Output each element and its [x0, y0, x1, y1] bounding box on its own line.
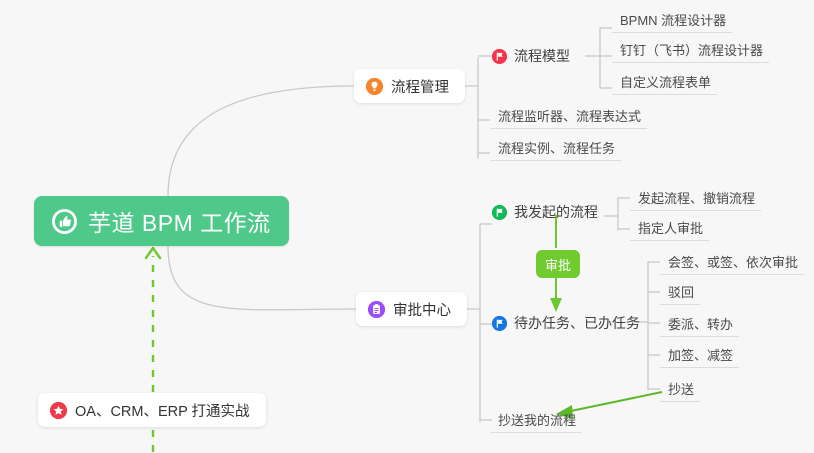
leaf-assigned-approval-label: 指定人审批 — [638, 218, 703, 237]
approve-badge-label: 审批 — [545, 255, 571, 274]
leaf-dingtalk-designer[interactable]: 钉钉（飞书）流程设计器 — [612, 36, 769, 63]
node-todo-done-tasks-label: 待办任务、已办任务 — [514, 313, 640, 333]
bottom-note-node[interactable]: OA、CRM、ERP 打通实战 — [38, 393, 266, 427]
node-process-model[interactable]: 流程模型 — [492, 43, 570, 69]
leaf-delegate-transfer-label: 委派、转办 — [668, 314, 733, 333]
approve-badge[interactable]: 审批 — [536, 250, 580, 278]
leaf-delegate-transfer[interactable]: 委派、转办 — [660, 310, 739, 337]
link-root-to-process-management — [168, 86, 354, 196]
leaf-process-listener-label: 流程监听器、流程表达式 — [498, 106, 641, 125]
leaf-reject[interactable]: 驳回 — [660, 278, 700, 305]
leaf-custom-form[interactable]: 自定义流程表单 — [612, 68, 717, 95]
node-todo-done-tasks[interactable]: 待办任务、已办任务 — [492, 310, 640, 336]
leaf-bpmn-designer-label: BPMN 流程设计器 — [620, 10, 726, 29]
leaf-dingtalk-designer-label: 钉钉（飞书）流程设计器 — [620, 40, 763, 59]
node-my-started-process[interactable]: 我发起的流程 — [492, 199, 598, 225]
leaf-reject-label: 驳回 — [668, 282, 694, 301]
bottom-note-label: OA、CRM、ERP 打通实战 — [75, 400, 250, 421]
branch-process-management-label: 流程管理 — [391, 76, 449, 97]
root-node[interactable]: 芋道 BPM 工作流 — [34, 196, 289, 246]
leaf-process-instance[interactable]: 流程实例、流程任务 — [490, 134, 621, 161]
leaf-assigned-approval[interactable]: 指定人审批 — [630, 214, 709, 241]
branch-process-management[interactable]: 流程管理 — [354, 69, 465, 103]
leaf-countersign[interactable]: 会签、或签、依次审批 — [660, 248, 804, 275]
leaf-process-instance-label: 流程实例、流程任务 — [498, 138, 615, 157]
branch-approval-center[interactable]: 审批中心 — [356, 292, 467, 326]
flag-icon — [492, 205, 507, 220]
leaf-add-remove-sign[interactable]: 加签、减签 — [660, 341, 739, 368]
link-root-to-approval-center — [168, 246, 356, 310]
leaf-start-cancel-process-label: 发起流程、撤销流程 — [638, 188, 755, 207]
leaf-add-remove-sign-label: 加签、减签 — [668, 345, 733, 364]
leaf-cc-to-me-process[interactable]: 抄送我的流程 — [490, 406, 582, 433]
leaf-cc-to-me-process-label: 抄送我的流程 — [498, 410, 576, 429]
clipboard-icon — [368, 301, 385, 318]
arrowhead-bottom-note — [146, 248, 160, 258]
mindmap-canvas: 芋道 BPM 工作流 OA、CRM、ERP 打通实战 流程管理 — [0, 0, 814, 453]
leaf-bpmn-designer[interactable]: BPMN 流程设计器 — [612, 6, 732, 33]
leaf-process-listener[interactable]: 流程监听器、流程表达式 — [490, 102, 647, 129]
leaf-countersign-label: 会签、或签、依次审批 — [668, 252, 798, 271]
branch-approval-center-label: 审批中心 — [393, 299, 451, 320]
leaf-start-cancel-process[interactable]: 发起流程、撤销流程 — [630, 184, 761, 211]
node-process-model-label: 流程模型 — [514, 46, 570, 66]
leaf-cc-label: 抄送 — [668, 379, 694, 398]
thumbs-up-icon — [52, 209, 77, 234]
flag-icon — [492, 316, 507, 331]
flag-icon — [492, 49, 507, 64]
lightbulb-icon — [366, 78, 383, 95]
node-my-started-process-label: 我发起的流程 — [514, 202, 598, 222]
star-icon — [50, 402, 67, 419]
leaf-cc[interactable]: 抄送 — [660, 375, 700, 402]
root-node-label: 芋道 BPM 工作流 — [88, 204, 271, 238]
leaf-custom-form-label: 自定义流程表单 — [620, 72, 711, 91]
